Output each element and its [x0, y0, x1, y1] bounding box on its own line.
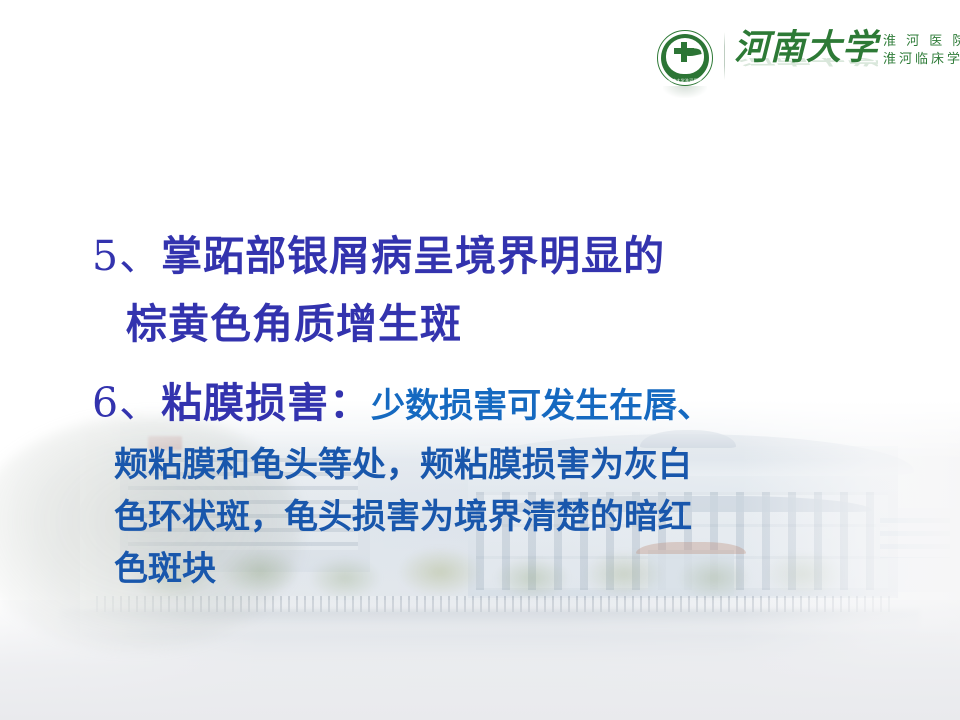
- slide-body: 5、掌跖部银屑病呈境界明显的 棕黄色角质增生斑 6、粘膜损害：少数损害可发生在唇…: [92, 222, 922, 595]
- university-emblem-icon: 河南大学淮河医院: [655, 28, 717, 90]
- photo-water-reflection: [0, 632, 960, 720]
- bullet-6-line-4: 色斑块: [92, 543, 922, 595]
- emblem-reflection-shadow: [663, 86, 707, 98]
- bullet-6-heading: 粘膜损害：: [161, 379, 371, 427]
- bullet-6-line-1: 少数损害可发生在唇、: [371, 386, 711, 426]
- university-name-reflection: 河南大学: [734, 58, 878, 67]
- institution-logo: 河南大学淮河医院 河南大学河南大学 淮 河 医 院 淮河临床学院: [655, 26, 955, 106]
- logo-text-block: 河南大学河南大学 淮 河 医 院 淮河临床学院: [734, 26, 960, 69]
- bullet-6-number: 6、: [92, 379, 161, 427]
- bullet-5-line-2: 棕黄色角质增生斑: [92, 290, 922, 358]
- bullet-6-lead: 6、粘膜损害：少数损害可发生在唇、: [92, 379, 711, 427]
- bullet-6-line-2: 颊粘膜和龟头等处，颊粘膜损害为灰白: [92, 439, 922, 491]
- logo-divider: [724, 32, 725, 80]
- bullet-6-line-3: 色环状斑，龟头损害为境界清楚的暗红: [92, 491, 922, 543]
- photo-fade-bottom: [0, 600, 960, 720]
- bullet-item-6: 6、粘膜损害：少数损害可发生在唇、: [92, 370, 922, 439]
- emblem-arc-text: 河南大学淮河医院: [667, 78, 703, 83]
- slide-canvas: 河南大学淮河医院 河南大学河南大学 淮 河 医 院 淮河临床学院 5、掌跖部银屑…: [0, 0, 960, 720]
- university-name: 河南大学河南大学: [734, 28, 878, 68]
- bullet-5-number: 5、: [92, 232, 161, 280]
- photo-railing: [96, 596, 896, 612]
- logo-subtitle-hospital: 淮 河 医 院: [883, 33, 960, 51]
- logo-subtitle-block: 淮 河 医 院 淮河临床学院: [883, 28, 960, 69]
- photo-promenade: [60, 610, 920, 636]
- bullet-5-line-1: 掌跖部银屑病呈境界明显的: [161, 232, 665, 280]
- bullet-item-5: 5、掌跖部银屑病呈境界明显的 棕黄色角质增生斑: [92, 222, 922, 358]
- logo-subtitle-college: 淮河临床学院: [883, 51, 960, 69]
